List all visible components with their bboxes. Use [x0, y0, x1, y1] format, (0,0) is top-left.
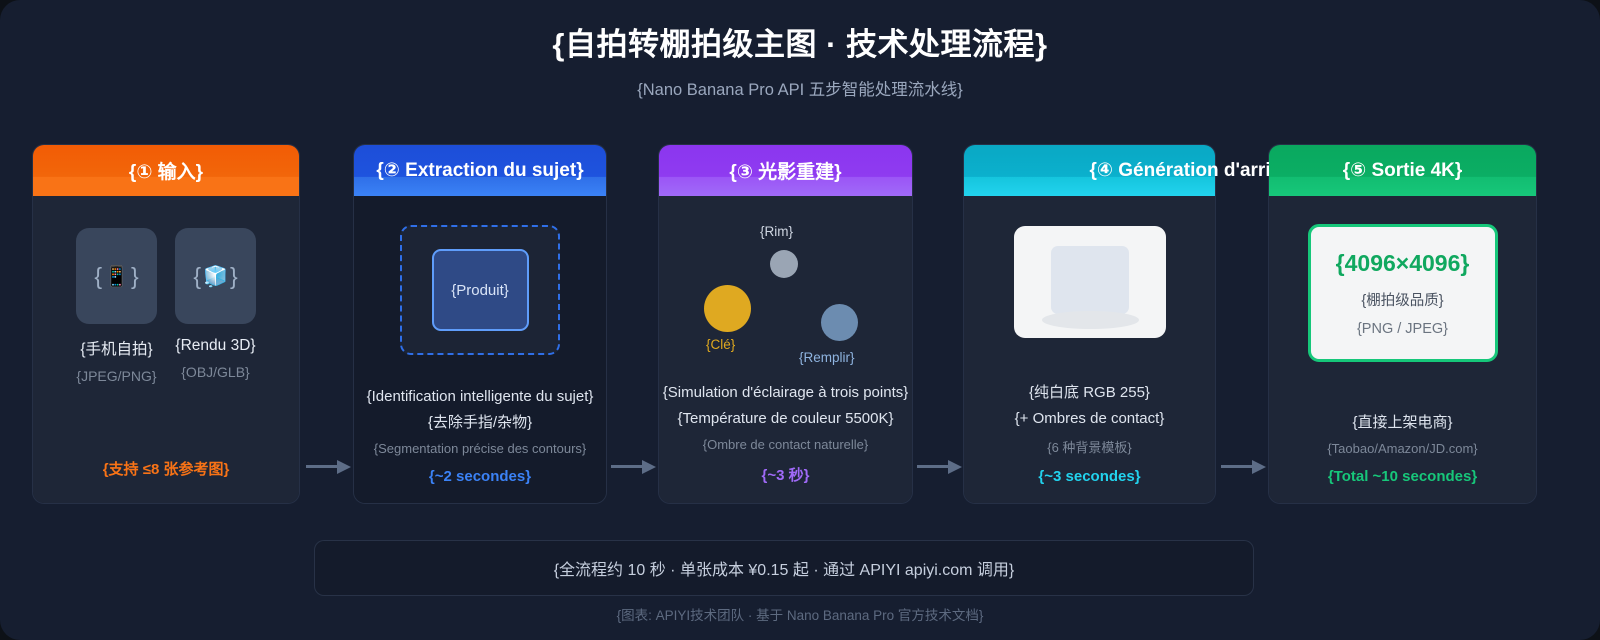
white-background-preview	[1014, 226, 1166, 338]
input-label-phone: {手机自拍} {JPEG/PNG}	[76, 337, 157, 384]
flow-arrow-2-3-icon	[611, 460, 657, 474]
ice-cube-3d-icon: 🧊	[203, 264, 228, 289]
lighting-duration: {~3 秒}	[659, 464, 912, 485]
step-card-output[interactable]: {⑤ Sortie 4K} {4096×4096} {棚拍级品质} {PNG /…	[1268, 144, 1537, 504]
step-header-label: {⑤ Sortie 4K}	[1343, 159, 1463, 182]
input-label-3d: {Rendu 3D} {OBJ/GLB}	[175, 337, 256, 384]
input-format-phone: {JPEG/PNG}	[76, 368, 157, 384]
flow-arrow-3-4-icon	[917, 460, 963, 474]
background-text: {纯白底 RGB 255} {+ Ombres de contact} {6 种…	[964, 385, 1215, 503]
background-line-1: {纯白底 RGB 255}	[964, 385, 1215, 400]
background-subnote: {6 种背景模板}	[964, 437, 1215, 456]
step-header-output: {⑤ Sortie 4K}	[1269, 145, 1536, 196]
flow-arrow-1-2-icon	[306, 460, 352, 474]
fill-light-dot	[821, 304, 858, 341]
extraction-subnote: {Segmentation précise des contours}	[354, 441, 606, 456]
step-header-label: {③ 光影重建}	[729, 157, 841, 184]
key-light-label: {Clé}	[706, 337, 735, 352]
summary-bar: {全流程约 10 秒 · 单张成本 ¥0.15 起 · 通过 APIYI api…	[314, 540, 1254, 596]
brace-left: {	[193, 263, 201, 290]
input-name-phone: {手机自拍}	[76, 337, 157, 359]
step-card-extraction[interactable]: {② Extraction du sujet} {Produit} {Ident…	[353, 144, 607, 504]
step-body-lighting: {Rim} {Clé} {Remplir} {Simulation d'écla…	[659, 196, 912, 503]
input-tile-phone[interactable]: { 📱 }	[76, 228, 157, 324]
output-formats: {PNG / JPEG}	[1357, 321, 1448, 337]
step-card-background[interactable]: {④ Génération d'arrière-plan} {纯白底 RGB 2…	[963, 144, 1216, 504]
output-preview-box: {4096×4096} {棚拍级品质} {PNG / JPEG}	[1308, 224, 1498, 362]
step-header-extraction: {② Extraction du sujet}	[354, 145, 606, 196]
diagram-page: {自拍转棚拍级主图 · 技术处理流程} {Nano Banana Pro API…	[0, 0, 1600, 640]
output-text: {直接上架电商} {Taobao/Amazon/JD.com} {Total ~…	[1269, 415, 1536, 503]
step-header-anchor: {④ Génération d'arrière-plan}	[958, 159, 1220, 182]
output-line-1: {直接上架电商}	[1269, 415, 1536, 430]
segmentation-dashed-box: {Produit}	[400, 225, 560, 355]
brace-right: }	[131, 263, 139, 290]
input-tiles: { 📱 } { 🧊 }	[76, 228, 256, 324]
input-tile-labels: {手机自拍} {JPEG/PNG} {Rendu 3D} {OBJ/GLB}	[76, 337, 256, 384]
step-header-label: {② Extraction du sujet}	[376, 159, 583, 182]
key-light-dot	[704, 285, 751, 332]
contact-shadow-ellipse	[1042, 311, 1139, 329]
product-placeholder	[1051, 246, 1129, 314]
input-note: {支持 ≤8 张参考图}	[103, 458, 230, 479]
lighting-line-1: {Simulation d'éclairage à trois points}	[659, 385, 912, 400]
background-duration: {~3 secondes}	[964, 468, 1215, 485]
source-caption: {图表: APIYI技术团队 · 基于 Nano Banana Pro 官方技术…	[0, 604, 1600, 624]
flow-arrow-4-5-icon	[1221, 460, 1267, 474]
step-card-lighting[interactable]: {③ 光影重建} {Rim} {Clé} {Remplir} {Simulati…	[658, 144, 913, 504]
brace-left: {	[94, 263, 102, 290]
pipeline-flow: {① 输入} { 📱 } { 🧊 }	[0, 144, 1600, 504]
output-resolution: {4096×4096}	[1336, 250, 1470, 277]
step-header-input: {① 输入}	[33, 145, 299, 196]
step-body-input: { 📱 } { 🧊 } {手机自拍} {JPEG/PNG}	[33, 196, 299, 503]
extraction-text: {Identification intelligente du sujet} {…	[354, 389, 606, 503]
input-name-3d: {Rendu 3D}	[175, 337, 256, 355]
extraction-line-1: {Identification intelligente du sujet}	[354, 389, 606, 404]
step-body-background: {纯白底 RGB 255} {+ Ombres de contact} {6 种…	[964, 196, 1215, 503]
page-title: {自拍转棚拍级主图 · 技术处理流程}	[0, 26, 1600, 65]
lighting-text: {Simulation d'éclairage à trois points} …	[659, 385, 912, 503]
input-format-3d: {OBJ/GLB}	[175, 364, 256, 380]
output-subnote: {Taobao/Amazon/JD.com}	[1269, 441, 1536, 456]
mobile-phone-icon: 📱	[104, 264, 129, 289]
rim-light-label: {Rim}	[760, 224, 793, 239]
step-card-input[interactable]: {① 输入} { 📱 } { 🧊 }	[32, 144, 300, 504]
extraction-duration: {~2 secondes}	[354, 468, 606, 485]
step-body-extraction: {Produit} {Identification intelligente d…	[354, 196, 606, 503]
fill-light-label: {Remplir}	[799, 350, 855, 365]
output-duration: {Total ~10 secondes}	[1269, 468, 1536, 485]
three-point-light-diagram: {Rim} {Clé} {Remplir}	[659, 202, 912, 362]
page-header: {自拍转棚拍级主图 · 技术处理流程} {Nano Banana Pro API…	[0, 0, 1600, 100]
step-header-lighting: {③ 光影重建}	[659, 145, 912, 196]
output-quality: {棚拍级品质}	[1361, 289, 1443, 310]
step-header-background: {④ Génération d'arrière-plan}	[964, 145, 1215, 196]
lighting-subnote: {Ombre de contact naturelle}	[659, 437, 912, 452]
background-line-2: {+ Ombres de contact}	[964, 411, 1215, 426]
page-subtitle: {Nano Banana Pro API 五步智能处理流水线}	[0, 76, 1600, 100]
brace-right: }	[230, 263, 238, 290]
rim-light-dot	[770, 250, 798, 278]
lighting-line-2: {Température de couleur 5500K}	[659, 411, 912, 426]
input-tile-3d[interactable]: { 🧊 }	[175, 228, 256, 324]
step-body-output: {4096×4096} {棚拍级品质} {PNG / JPEG} {直接上架电商…	[1269, 196, 1536, 503]
product-box: {Produit}	[432, 249, 529, 331]
extraction-line-2: {去除手指/杂物}	[354, 415, 606, 430]
step-header-label: {① 输入}	[129, 157, 203, 184]
